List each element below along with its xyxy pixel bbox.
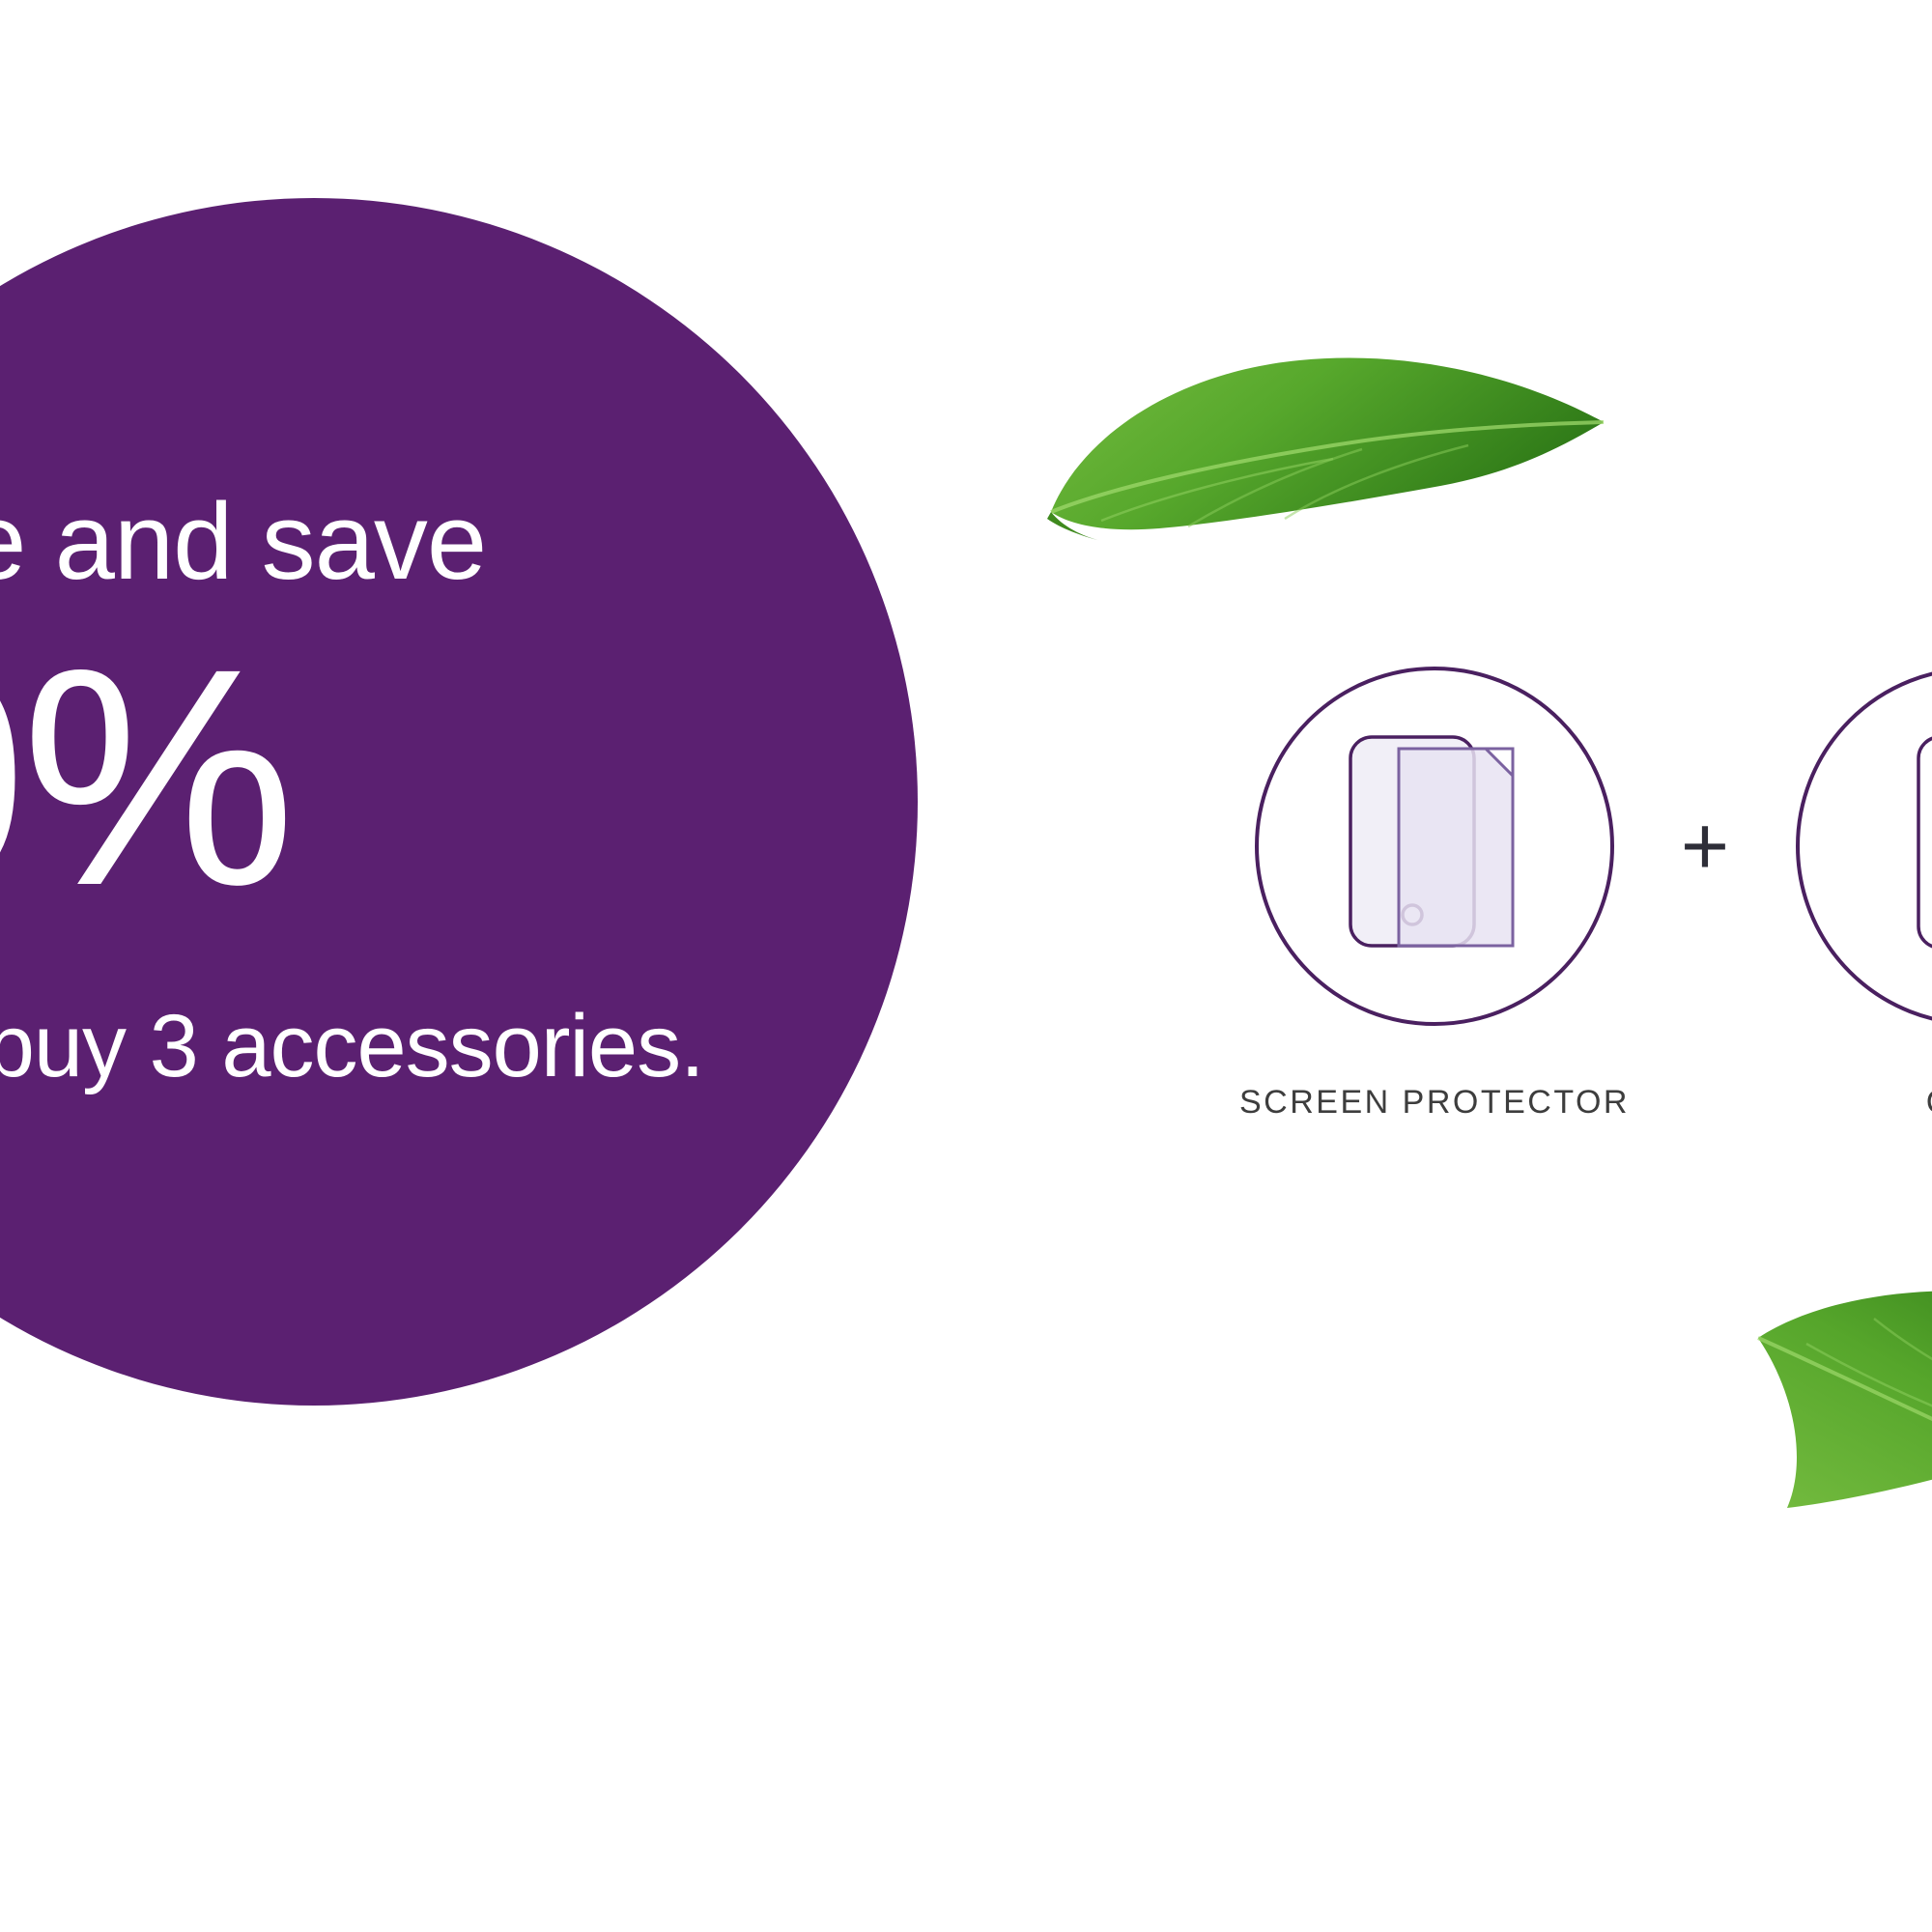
phone-case-icon [1864,716,1932,977]
bottom-letterbox-band [0,1915,1932,1932]
promo-text-block: dle and save 0% u buy 3 accessories. [0,488,734,1091]
promo-discount-amount: 0% [0,619,734,934]
promo-subline: u buy 3 accessories. [0,1002,734,1091]
screen-protector-icon [1323,716,1546,977]
promo-headline: dle and save [0,488,734,596]
screen-protector-circle [1255,667,1614,1026]
accessory-label-case: CASE [1926,1084,1932,1122]
promo-banner: dle and save 0% u buy 3 accessories. [0,0,1932,1932]
accessory-item-case[interactable]: CASE [1753,667,1932,1122]
accessory-bundle-group: SCREEN PROTECTOR + CASE [1212,667,1932,1122]
accessory-item-screen-protector[interactable]: SCREEN PROTECTOR [1212,667,1657,1122]
green-leaf-bottom [1748,1280,1932,1531]
case-circle [1796,667,1932,1026]
accessory-plus-separator: + [1657,667,1753,1026]
accessory-label-screen-protector: SCREEN PROTECTOR [1239,1084,1630,1122]
top-letterbox-band [0,0,1932,19]
green-leaf-top [1043,343,1623,565]
